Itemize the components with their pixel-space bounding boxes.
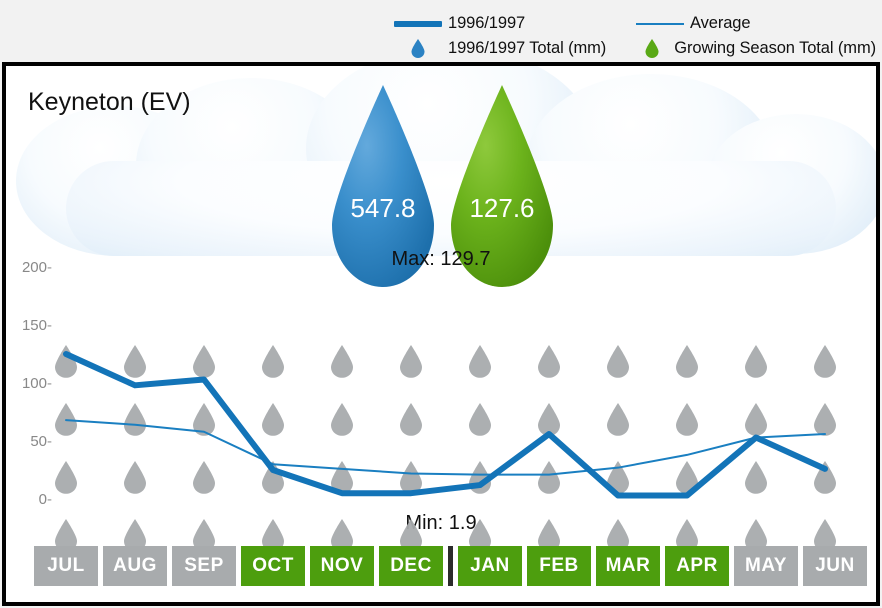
rain-droplet-icon [814,403,836,436]
rain-droplet-icon [262,345,284,378]
rain-droplet-icon [814,345,836,378]
rain-droplet-icon [55,345,77,378]
month-label-dec[interactable]: DEC [379,546,443,586]
rain-droplet-icon [124,345,146,378]
rain-droplet-icon [538,403,560,436]
rain-droplet-icon [538,345,560,378]
rain-droplet-icon [331,345,353,378]
rain-droplet-icon [607,345,629,378]
rain-droplet-icon [400,345,422,378]
month-label-sep[interactable]: SEP [172,546,236,586]
rain-droplet-icon [331,403,353,436]
month-label-oct[interactable]: OCT [241,546,305,586]
year-boundary-divider [448,546,453,586]
rain-droplet-icon [55,461,77,494]
rain-droplet-icon [607,403,629,436]
rain-droplet-icon [124,403,146,436]
rain-droplet-icon [745,461,767,494]
rain-droplet-icon [124,461,146,494]
month-label-aug[interactable]: AUG [103,546,167,586]
rain-droplet-icon [400,403,422,436]
month-label-mar[interactable]: MAR [596,546,660,586]
rain-droplet-icon [262,403,284,436]
month-label-jul[interactable]: JUL [34,546,98,586]
rain-droplet-icon [469,403,491,436]
rain-droplet-icon [745,403,767,436]
rain-droplet-icon [745,345,767,378]
month-label-feb[interactable]: FEB [527,546,591,586]
rain-droplet-icon [193,345,215,378]
rain-droplet-icon [538,461,560,494]
month-label-apr[interactable]: APR [665,546,729,586]
month-label-may[interactable]: MAY [734,546,798,586]
series-line-average [66,420,825,475]
rain-droplet-icon [400,461,422,494]
rain-droplet-icon [469,345,491,378]
month-label-nov[interactable]: NOV [310,546,374,586]
rainfall-chart-widget: 1996/1997 Average 1996/1997 Tota [0,0,882,608]
month-label-jan[interactable]: JAN [458,546,522,586]
rain-droplet-icon [676,345,698,378]
month-label-jun[interactable]: JUN [803,546,867,586]
rain-droplet-icon [676,403,698,436]
month-axis: JULAUGSEPOCTNOVDECJANFEBMARAPRMAYJUN [34,546,872,586]
rain-droplet-icon [193,461,215,494]
rainfall-plot [0,0,882,608]
